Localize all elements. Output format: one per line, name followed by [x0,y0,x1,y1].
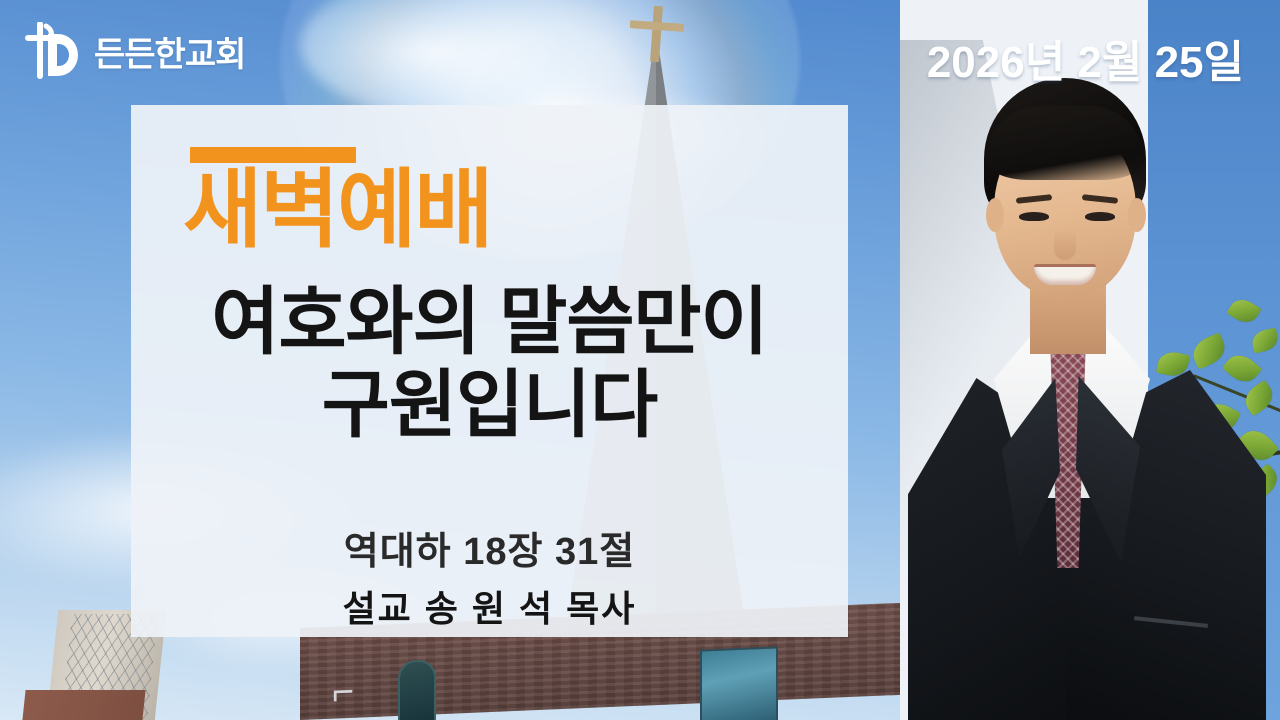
glass-window-reflecting-sky [700,646,778,720]
hair-fringe [986,106,1144,180]
sermon-title-line-1: 여호와의 말씀만이 [131,281,848,364]
sermon-title-card: ⌐ [0,0,1280,720]
church-logo[interactable]: 든든한교회 [24,22,245,80]
service-date: 2026년 2월 25일 [927,26,1244,90]
cross-d-monogram-icon [24,22,84,80]
orange-accent-bar [190,147,356,163]
nose [1054,228,1076,260]
eye-left [1019,212,1049,221]
preacher-label: 설교 송 원 석 목사 [131,580,848,632]
ear-left [986,198,1004,232]
pastor-figure [938,78,1258,720]
sermon-title: 여호와의 말씀만이 구원입니다 [131,281,848,447]
facade-logo-mark: ⌐ [332,671,366,712]
smiling-mouth [1034,264,1096,285]
bell-tower-brick-base [22,690,145,720]
eye-right [1085,212,1115,221]
arched-window [398,659,436,720]
content-card: 새벽예배 여호와의 말씀만이 구원입니다 역대하 18장 31절 설교 송 원 … [131,105,848,637]
church-name-label: 든든한교회 [94,27,245,76]
sermon-title-line-2: 구원입니다 [131,364,848,447]
scripture-reference: 역대하 18장 31절 [131,520,848,575]
header-bar: 든든한교회 2026년 2월 25일 [0,0,1280,105]
ear-right [1128,198,1146,232]
service-type-label: 새벽예배 [183,167,491,253]
pastor-portrait-region [900,0,1280,720]
